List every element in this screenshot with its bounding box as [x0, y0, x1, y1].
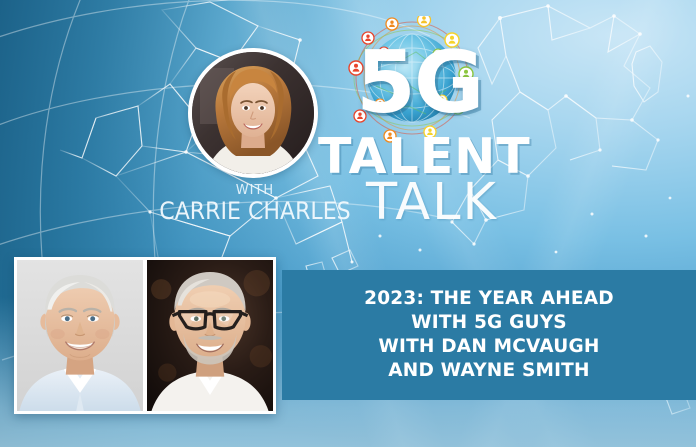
host-avatar — [188, 48, 318, 178]
podcast-cover-image: 5G TALENT TALK — [0, 0, 696, 447]
guest-photo-wayne-smith — [147, 260, 273, 411]
host-name: CARRIE CHARLES — [158, 197, 351, 225]
show-logo: 5G TALENT TALK — [318, 14, 588, 239]
episode-title: 2023: THE YEAR AHEAD WITH 5G GUYS WITH D… — [350, 287, 628, 383]
logo-5g-text: 5G — [356, 46, 556, 122]
episode-title-banner: 2023: THE YEAR AHEAD WITH 5G GUYS WITH D… — [282, 270, 696, 400]
logo-talk-text: TALK — [366, 177, 636, 228]
guest-photo-dan-mcvaugh — [17, 260, 143, 411]
guest-photo-frame — [14, 257, 276, 414]
host-with-label: WITH — [160, 183, 350, 198]
